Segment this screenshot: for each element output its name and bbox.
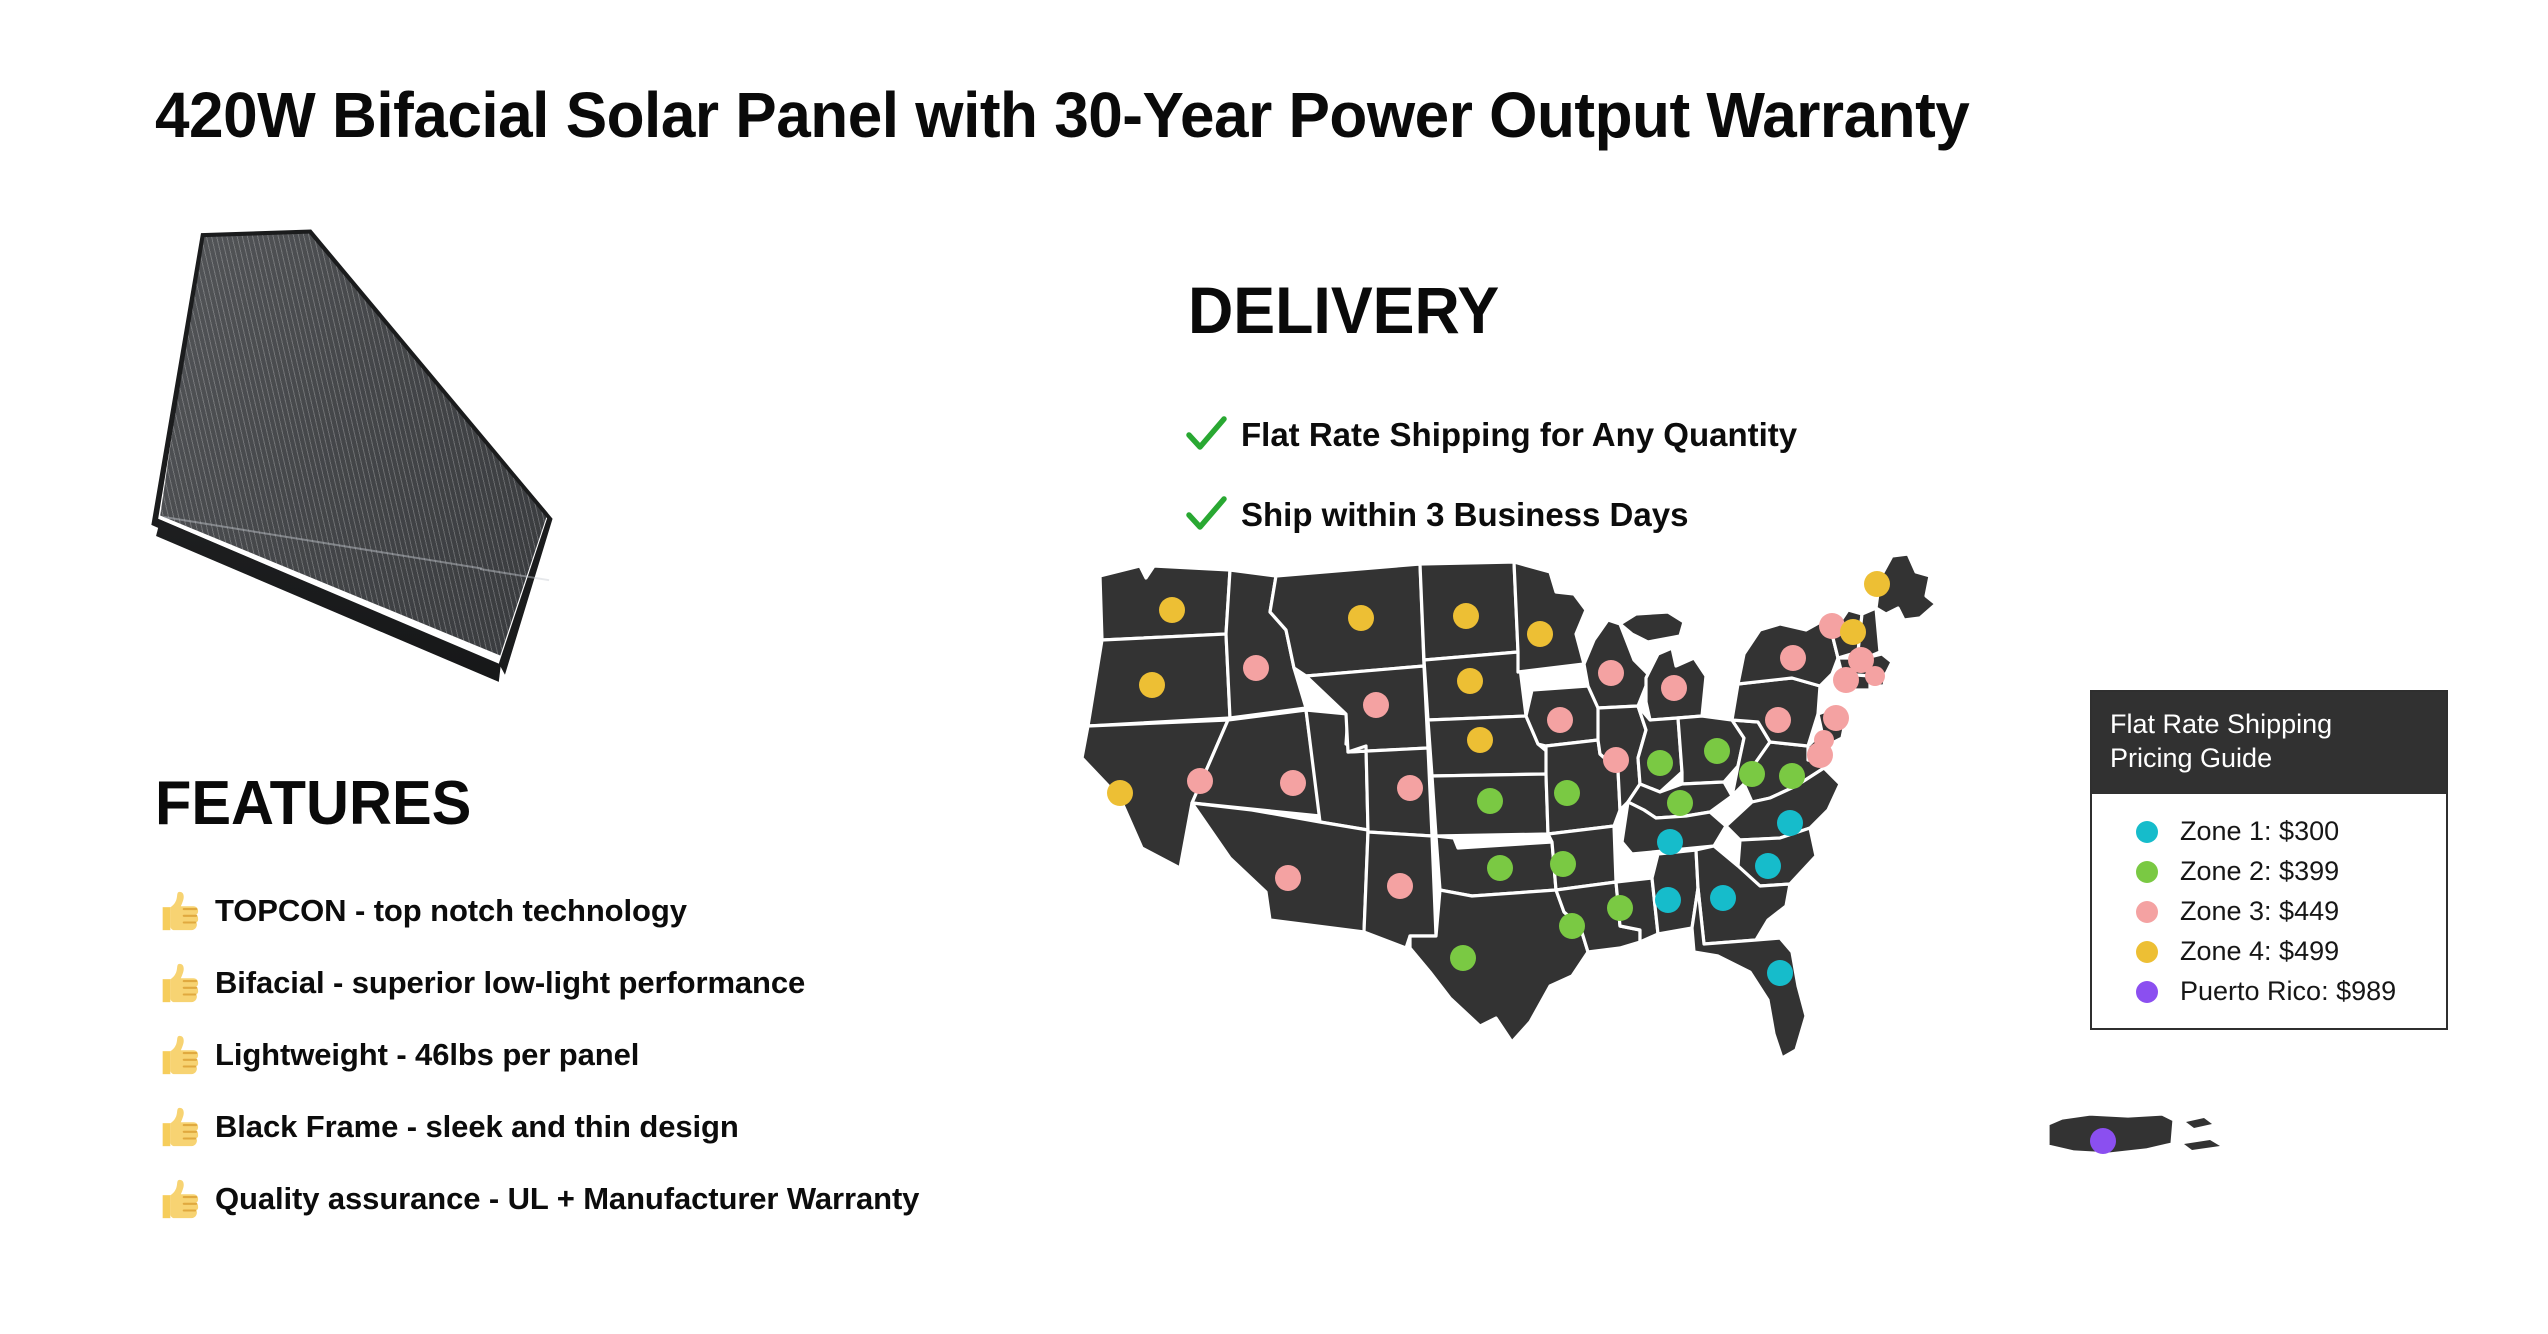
zone-marker-md: [1807, 742, 1833, 768]
zone-marker-wy: [1363, 692, 1389, 718]
puerto-rico-islets: [2184, 1118, 2220, 1150]
zone-marker-la: [1559, 913, 1585, 939]
list-item: Black Frame - sleek and thin design: [155, 1091, 1205, 1163]
zone-marker-ok: [1487, 855, 1513, 881]
zone-color-dot: [2136, 941, 2158, 963]
legend-label: Zone 3: $449: [2180, 896, 2339, 927]
zone-color-dot: [2136, 861, 2158, 883]
legend-title-line1: Flat Rate Shipping: [2110, 708, 2428, 742]
delivery-heading: DELIVERY: [1188, 272, 1499, 348]
thumbs-up-icon: [155, 888, 201, 934]
zone-marker-in: [1647, 750, 1673, 776]
zone-marker-sd: [1457, 668, 1483, 694]
feature-label: TOPCON - top notch technology: [215, 893, 687, 929]
legend-header: Flat Rate Shipping Pricing Guide: [2092, 692, 2446, 794]
zone-marker-mo: [1554, 780, 1580, 806]
feature-label: Lightweight - 46lbs per panel: [215, 1037, 639, 1073]
zone-marker-mi: [1661, 675, 1687, 701]
page-title: 420W Bifacial Solar Panel with 30-Year P…: [155, 78, 2357, 152]
zone-marker-ut: [1280, 770, 1306, 796]
zone-marker-mt: [1348, 605, 1374, 631]
list-item: Bifacial - superior low-light performanc…: [155, 947, 1205, 1019]
feature-label: Black Frame - sleek and thin design: [215, 1109, 739, 1145]
features-heading: FEATURES: [155, 768, 471, 839]
zone-marker-va: [1779, 763, 1805, 789]
check-mark-icon: [1185, 494, 1227, 536]
list-item: TOPCON - top notch technology: [155, 875, 1205, 947]
legend-label: Zone 4: $499: [2180, 936, 2339, 967]
list-item: Quality assurance - UL + Manufacturer Wa…: [155, 1163, 1205, 1235]
delivery-label: Ship within 3 Business Days: [1241, 496, 1688, 534]
legend-label: Zone 2: $399: [2180, 856, 2339, 887]
zone-marker-ks: [1477, 788, 1503, 814]
zone-marker-mn: [1527, 621, 1553, 647]
thumbs-up-icon: [155, 1104, 201, 1150]
legend-row: Puerto Rico: $989: [2136, 972, 2436, 1012]
zone-marker-ar: [1550, 851, 1576, 877]
list-item: Lightweight - 46lbs per panel: [155, 1019, 1205, 1091]
zone-marker-fl: [1767, 960, 1793, 986]
check-mark-icon: [1185, 414, 1227, 456]
zone-marker-ky: [1667, 790, 1693, 816]
zone-marker-ri: [1865, 666, 1885, 686]
zone-marker-ia: [1547, 707, 1573, 733]
zone-marker-tn: [1657, 829, 1683, 855]
map-landmass: [1082, 554, 2174, 1154]
zone-marker-nm: [1387, 873, 1413, 899]
zone-marker-oh: [1704, 738, 1730, 764]
zone-marker-nj: [1823, 705, 1849, 731]
delivery-list: Flat Rate Shipping for Any Quantity Ship…: [1185, 395, 1797, 555]
thumbs-up-icon: [155, 1032, 201, 1078]
zone-color-dot: [2136, 821, 2158, 843]
zone-marker-ne: [1467, 727, 1493, 753]
legend-row: Zone 2: $399: [2136, 852, 2436, 892]
usa-shipping-zone-map: [1080, 548, 2260, 1228]
feature-label: Quality assurance - UL + Manufacturer Wa…: [215, 1181, 919, 1217]
zone-marker-il: [1603, 747, 1629, 773]
product-infographic: 420W Bifacial Solar Panel with 30-Year P…: [0, 0, 2548, 1334]
map-svg: [1080, 548, 2260, 1228]
zone-marker-ca: [1107, 780, 1133, 806]
zone-marker-nc: [1777, 810, 1803, 836]
zone-marker-me: [1864, 571, 1890, 597]
zone-marker-al: [1655, 887, 1681, 913]
feature-label: Bifacial - superior low-light performanc…: [215, 965, 805, 1001]
thumbs-up-icon: [155, 960, 201, 1006]
zone-marker-ga: [1710, 885, 1736, 911]
zone-marker-az: [1275, 865, 1301, 891]
thumbs-up-icon: [155, 1176, 201, 1222]
zone-marker-or: [1139, 672, 1165, 698]
legend-row: Zone 3: $449: [2136, 892, 2436, 932]
zone-marker-sc: [1755, 853, 1781, 879]
zone-marker-tx: [1450, 945, 1476, 971]
zone-marker-ny: [1780, 645, 1806, 671]
legend-title-line2: Pricing Guide: [2110, 742, 2428, 776]
zone-marker-ms: [1607, 895, 1633, 921]
legend-body: Zone 1: $300 Zone 2: $399 Zone 3: $449 Z…: [2092, 794, 2446, 1028]
zone-marker-pr: [2090, 1128, 2116, 1154]
zone-marker-id: [1243, 655, 1269, 681]
zone-marker-wv: [1739, 761, 1765, 787]
zone-marker-nd: [1453, 603, 1479, 629]
list-item: Ship within 3 Business Days: [1185, 475, 1797, 555]
zone-marker-wa: [1159, 597, 1185, 623]
features-list: TOPCON - top notch technology Bifacial -…: [155, 875, 1205, 1235]
legend-row: Zone 1: $300: [2136, 812, 2436, 852]
zone-marker-pa: [1765, 707, 1791, 733]
solar-panel-surface: [150, 228, 830, 728]
delivery-label: Flat Rate Shipping for Any Quantity: [1241, 416, 1797, 454]
zone-marker-nv: [1187, 768, 1213, 794]
zone-color-dot: [2136, 901, 2158, 923]
zone-marker-co: [1397, 775, 1423, 801]
shipping-pricing-legend: Flat Rate Shipping Pricing Guide Zone 1:…: [2090, 690, 2448, 1030]
legend-label: Zone 1: $300: [2180, 816, 2339, 847]
list-item: Flat Rate Shipping for Any Quantity: [1185, 395, 1797, 475]
zone-color-dot: [2136, 981, 2158, 1003]
zone-marker-wi: [1598, 660, 1624, 686]
zone-marker-nh: [1840, 619, 1866, 645]
solar-panel-image: [150, 228, 830, 738]
legend-label: Puerto Rico: $989: [2180, 976, 2396, 1007]
zone-marker-ct: [1833, 667, 1859, 693]
legend-row: Zone 4: $499: [2136, 932, 2436, 972]
